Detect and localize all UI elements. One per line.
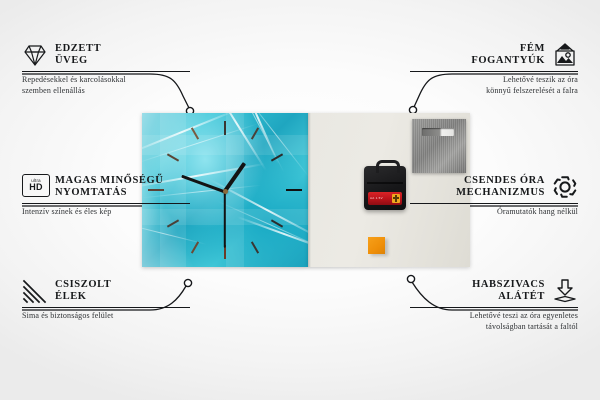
feature-desc-line2: könnyű felszerelését a falra [486, 86, 578, 95]
feature-divider [410, 203, 578, 204]
feature-title-line1: FÉM [520, 43, 545, 54]
feature-title-line1: CSENDES ÓRA [464, 175, 545, 186]
feature-desc-line1: Lehetővé teszik az óra [503, 75, 578, 84]
feature-desc-line1: Intenzív színek és éles kép [22, 207, 111, 216]
feature-desc-line1: Sima és biztonságos felület [22, 311, 113, 320]
feature-fem-fogantyuk[interactable]: FÉM FOGANTYÚK Lehetővé teszik az óra kö [410, 42, 578, 96]
feature-title-line2: ÉLEK [55, 291, 87, 302]
feature-divider [410, 71, 578, 72]
feature-desc-line1: Óramutatók hang nélkül [497, 207, 578, 216]
foam-pad-arrow-icon [552, 278, 578, 304]
feature-csiszolt-elek[interactable]: CSISZOLT ÉLEK Sima és biztonságos felüle… [22, 278, 190, 322]
metal-hanger-plate [412, 119, 466, 173]
feature-divider [22, 203, 190, 204]
ultra-hd-icon: ultra HD [22, 174, 48, 200]
feature-title-line2: MECHANIZMUS [456, 187, 545, 198]
feature-title-line2: ALÁTÉT [498, 291, 545, 302]
clock-center-cap [223, 189, 228, 194]
feature-divider [22, 71, 190, 72]
diamond-icon [22, 42, 48, 68]
infographic-canvas: AA 1.5V EDZETT [0, 0, 600, 400]
feature-desc-line2: szemben ellenállás [22, 86, 85, 95]
feature-title-line1: MAGAS MINŐSÉGŰ [55, 175, 163, 186]
battery-label: AA 1.5V [370, 196, 383, 200]
hanger-slot [422, 128, 454, 136]
polished-edge-icon [22, 278, 48, 304]
feature-magas-minosegu-nyomtatas[interactable]: ultra HD MAGAS MINŐSÉGŰ NYOMTATÁS Intenz… [22, 174, 190, 218]
mechanism-hanging-loop [376, 160, 400, 173]
clock-tick [251, 241, 259, 253]
hd-icon-main-text: HD [29, 183, 43, 192]
battery-plus-terminal [392, 194, 400, 203]
feature-edzett-uveg[interactable]: EDZETT ÜVEG Repedésekkel és karcolásokka… [22, 42, 190, 96]
feature-csendes-ora-mechanizmus[interactable]: CSENDES ÓRA MECHANIZMUS Óramutatók hang … [410, 174, 578, 218]
feature-desc-line1: Lehetővé teszi az óra egyenletes [470, 311, 578, 320]
foam-spacer-pad [368, 237, 385, 254]
feature-habszivacs-alatet[interactable]: HABSZIVACS ALÁTÉT Lehetővé teszi az óra … [410, 278, 578, 332]
feature-title-line1: CSISZOLT [55, 279, 111, 290]
feature-desc-line1: Repedésekkel és karcolásokkal [22, 75, 126, 84]
battery: AA 1.5V [368, 192, 402, 205]
feature-divider [410, 307, 578, 308]
feature-divider [22, 307, 190, 308]
feature-title-line1: EDZETT [55, 43, 101, 54]
clock-tick [224, 121, 226, 135]
feature-title-line1: HABSZIVACS [472, 279, 545, 290]
feature-title-line2: NYOMTATÁS [55, 187, 127, 198]
picture-hanger-icon [552, 42, 578, 68]
clock-tick [191, 241, 199, 253]
feature-title-line2: ÜVEG [55, 55, 88, 66]
feature-title-line2: FOGANTYÚK [471, 55, 545, 66]
feature-desc-line2: távolságban tartását a faltól [486, 322, 578, 331]
gear-icon [552, 174, 578, 200]
clock-tick [286, 189, 302, 191]
second-hand [224, 191, 226, 247]
